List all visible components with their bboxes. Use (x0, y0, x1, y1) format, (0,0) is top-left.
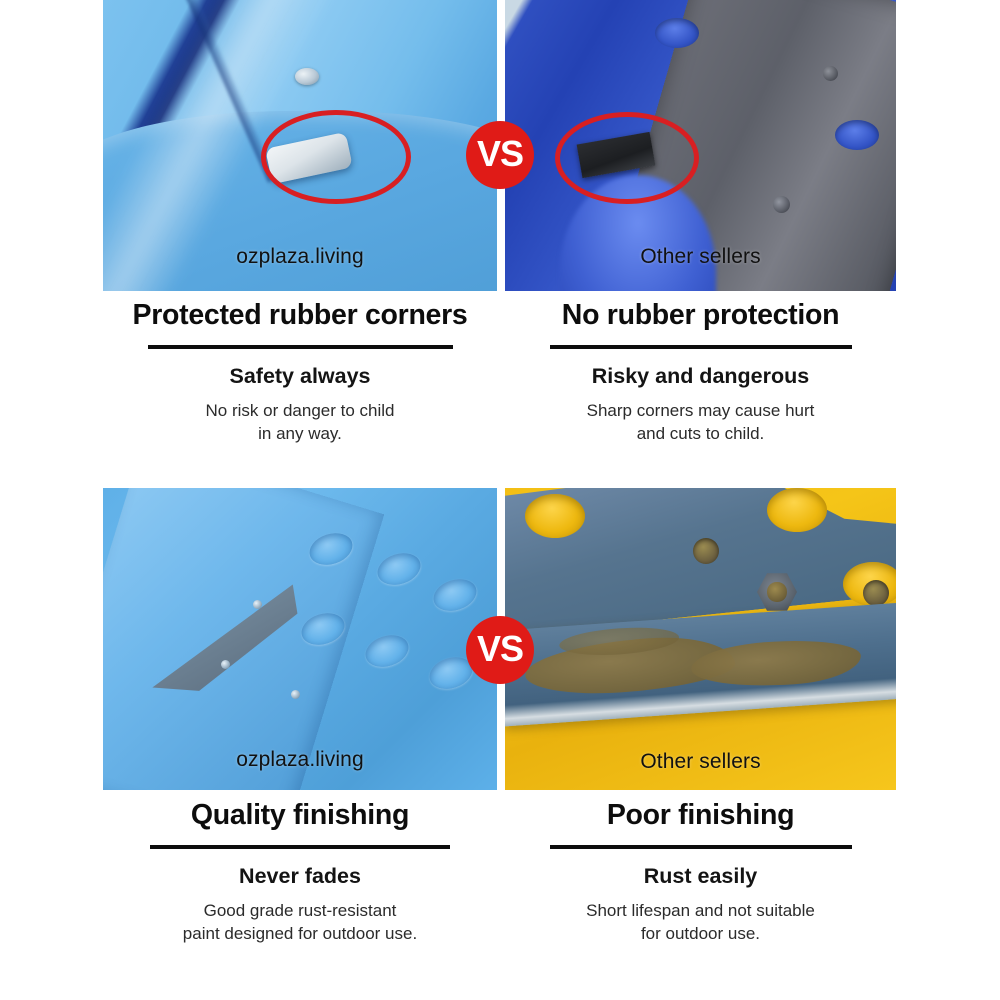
caption-description-line: in any way. (103, 422, 497, 445)
vs-badge-label: VS (477, 136, 523, 172)
caption-description-line: No risk or danger to child (103, 399, 497, 422)
photo-rivet-detail (291, 690, 300, 699)
photo-hole-detail (863, 580, 889, 606)
photo-panel-ours-rubber-corners: ozplaza.living (103, 0, 497, 291)
caption-description: No risk or danger to child in any way. (103, 399, 497, 446)
photo-dimple-detail (655, 18, 699, 48)
photo-dimple-detail (835, 120, 879, 150)
caption-description-line: Short lifespan and not suitable (505, 899, 896, 922)
caption-description: Good grade rust-resistant paint designed… (103, 899, 497, 946)
caption-ours-finishing: Quality finishing Never fades Good grade… (103, 800, 497, 946)
photo-blue-table-bracket (103, 488, 497, 790)
caption-divider (150, 845, 450, 849)
vs-badge-label: VS (477, 631, 523, 667)
caption-title: Poor finishing (505, 800, 896, 832)
caption-subtitle: Safety always (103, 364, 497, 390)
caption-description-line: Good grade rust-resistant (103, 899, 497, 922)
caption-description: Short lifespan and not suitable for outd… (505, 899, 896, 946)
photo-rivet-detail (221, 660, 230, 669)
caption-subtitle: Never fades (103, 864, 497, 890)
caption-divider (148, 345, 453, 349)
caption-description-line: for outdoor use. (505, 922, 896, 945)
caption-theirs-rubber-corners: No rubber protection Risky and dangerous… (505, 300, 896, 446)
caption-description-line: Sharp corners may cause hurt (505, 399, 896, 422)
photo-panel-ours-finishing: ozplaza.living (103, 488, 497, 790)
photo-caption-theirs: Other sellers (505, 750, 896, 774)
photo-panel-theirs-rubber-corners: Other sellers (505, 0, 896, 291)
caption-description-line: paint designed for outdoor use. (103, 922, 497, 945)
caption-divider (550, 345, 852, 349)
caption-title: No rubber protection (505, 300, 896, 332)
vs-badge-finishing: VS (466, 616, 534, 684)
photo-bolt-detail (823, 66, 838, 81)
caption-subtitle: Risky and dangerous (505, 364, 896, 390)
caption-title: Protected rubber corners (103, 300, 497, 332)
photo-rusted-metal-bar (505, 488, 896, 790)
caption-divider (550, 845, 852, 849)
photo-bolt-detail (773, 196, 790, 213)
photo-rivet-detail (253, 600, 262, 609)
photo-dimple-detail (767, 488, 827, 532)
photo-rust-patch (690, 636, 863, 692)
photo-caption-ours: ozplaza.living (103, 245, 497, 269)
photo-screw-detail (295, 68, 319, 85)
caption-subtitle: Rust easily (505, 864, 896, 890)
photo-caption-theirs: Other sellers (505, 245, 896, 269)
caption-description: Sharp corners may cause hurt and cuts to… (505, 399, 896, 446)
caption-title: Quality finishing (103, 800, 497, 832)
vs-badge-rubber-corners: VS (466, 121, 534, 189)
caption-description-line: and cuts to child. (505, 422, 896, 445)
comparison-row-finishing: ozplaza.living VS Other sell (0, 488, 1000, 1000)
caption-theirs-finishing: Poor finishing Rust easily Short lifespa… (505, 800, 896, 946)
photo-hole-detail (693, 538, 719, 564)
caption-ours-rubber-corners: Protected rubber corners Safety always N… (103, 300, 497, 446)
photo-panel-theirs-finishing: Other sellers (505, 488, 896, 790)
comparison-row-rubber-corners: ozplaza.living VS Other sellers Protecte… (0, 0, 1000, 490)
photo-art-layer (103, 488, 497, 790)
photo-dimple-detail (525, 494, 585, 538)
photo-caption-ours: ozplaza.living (103, 748, 497, 772)
comparison-infographic: ozplaza.living VS Other sellers Protecte… (0, 0, 1000, 1000)
